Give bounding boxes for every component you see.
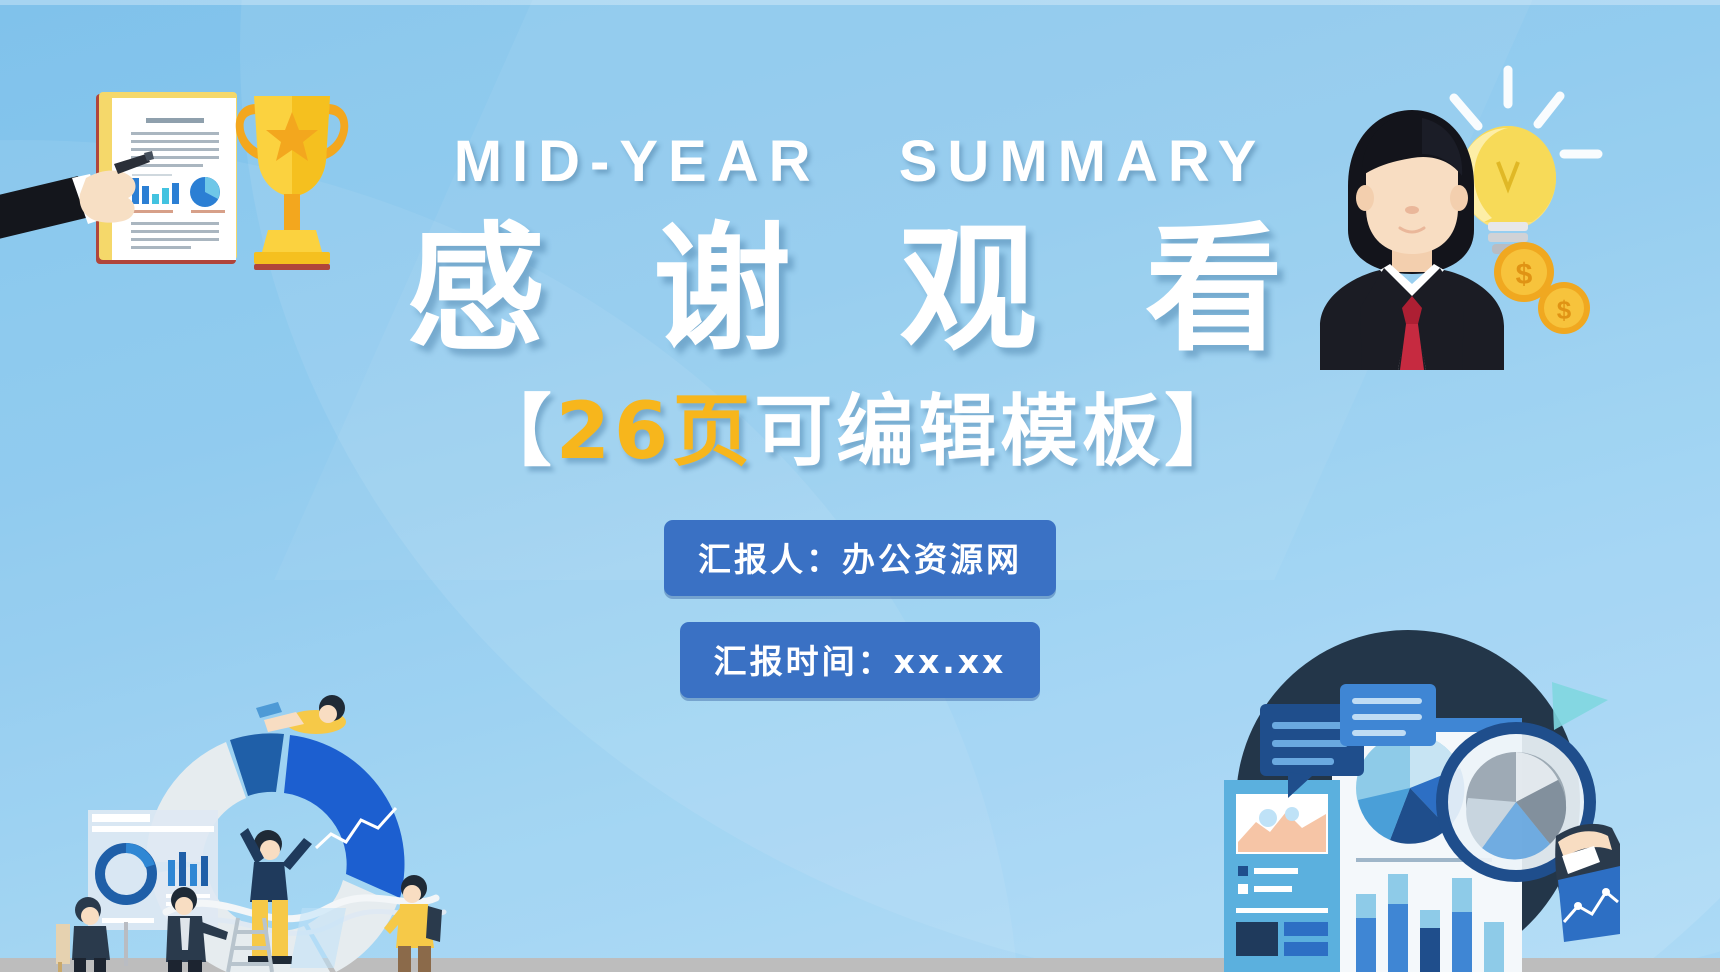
subtitle-close-bracket: 】	[1164, 387, 1246, 477]
subtitle-page-count: 26页	[556, 387, 755, 477]
presenter-badge[interactable]: 汇报人：办公资源网	[664, 520, 1056, 596]
subtitle-line: 【26页可编辑模板】	[0, 388, 1720, 478]
eyebrow-right-text: SUMMARY	[899, 129, 1267, 194]
center-content: MID-YEAR SUMMARY 感 谢 观 看 【26页可编辑模板】 汇报人：…	[0, 0, 1720, 698]
eyebrow-heading: MID-YEAR SUMMARY	[0, 128, 1720, 195]
subtitle-open-bracket: 【	[474, 387, 556, 477]
subtitle-rest-text: 可编辑模板	[754, 387, 1164, 477]
badge-group: 汇报人：办公资源网 汇报时间：xx.xx	[0, 520, 1720, 698]
closing-slide: $ $	[0, 0, 1720, 972]
page-title: 感 谢 观 看	[0, 209, 1720, 372]
eyebrow-left-text: MID-YEAR	[454, 129, 821, 194]
date-badge[interactable]: 汇报时间：xx.xx	[680, 622, 1041, 698]
